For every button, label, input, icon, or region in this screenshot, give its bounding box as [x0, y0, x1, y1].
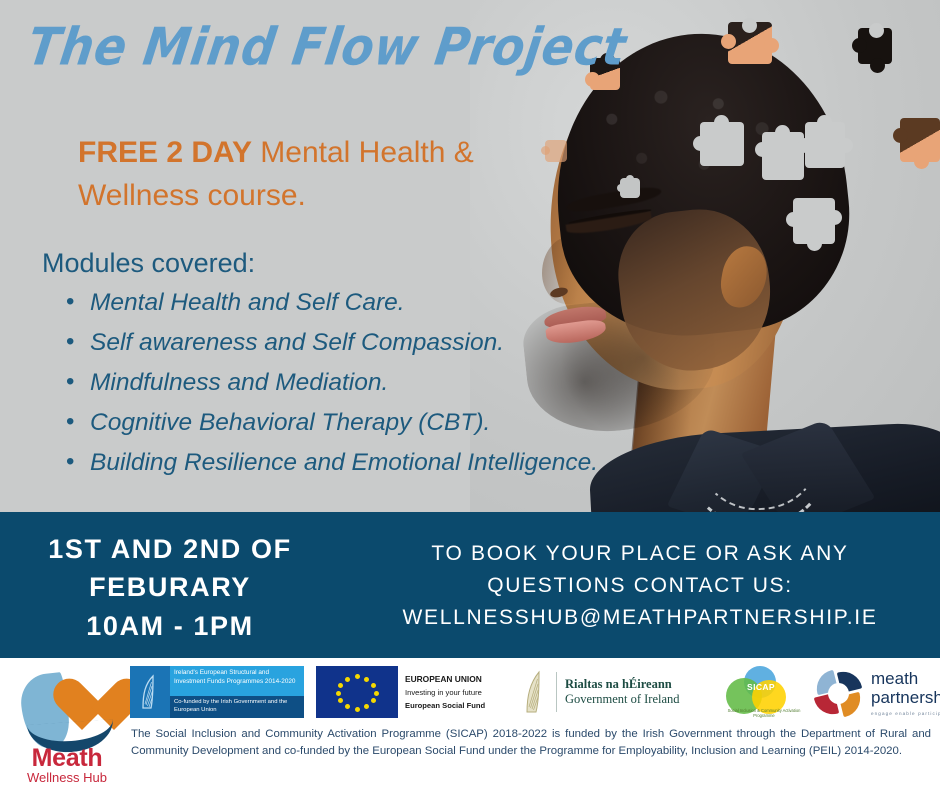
harp-icon [522, 669, 548, 715]
mp-tagline: engage enable participate progress [871, 711, 940, 716]
logo-subtitle: Wellness Hub [8, 770, 126, 785]
list-item: Mental Health and Self Care. [60, 283, 680, 323]
puzzle-piece-floating-small [545, 140, 567, 162]
esif-top-text: Ireland's European Structural and Invest… [170, 666, 304, 696]
meath-partnership-logo: meath partnership engage enable particip… [814, 666, 940, 720]
logo-name: Meath [8, 744, 126, 773]
esif-bottom-text: Co-funded by the Irish Government and th… [170, 696, 304, 718]
government-english: Government of Ireland [565, 692, 680, 707]
divider [556, 672, 557, 712]
subheading: FREE 2 DAY Mental Health & Wellness cour… [78, 132, 548, 217]
puzzle-piece-cutout [700, 122, 744, 166]
date-line-1: 1ST AND 2ND OF [0, 530, 340, 568]
list-item: Cognitive Behavioral Therapy (CBT). [60, 403, 680, 443]
government-of-ireland-logo: Rialtas na hÉireann Government of Irelan… [522, 666, 712, 718]
mp-line-1: meath [871, 670, 940, 688]
puzzle-piece-cutout [793, 198, 835, 244]
modules-list: Mental Health and Self Care. Self awaren… [60, 283, 680, 483]
puzzle-piece-cutout [762, 132, 804, 180]
government-text: Rialtas na hÉireann Government of Irelan… [565, 677, 680, 707]
eu-line-3: European Social Fund [405, 701, 485, 710]
mp-line-2: partnership [871, 688, 940, 707]
esif-logo: Ireland's European Structural and Invest… [130, 666, 304, 718]
contact-block: TO BOOK YOUR PLACE OR ASK ANY QUESTIONS … [350, 538, 930, 634]
info-banner: 1ST AND 2ND OF FEBURARY 10AM - 1PM TO BO… [0, 512, 940, 658]
sicap-wordmark: SICAP [736, 682, 786, 692]
puzzle-piece-floating [900, 118, 940, 162]
sicap-subtitle: Social Inclusion & Community Activation … [722, 708, 806, 719]
eu-text: EUROPEAN UNION Investing in your future … [405, 666, 485, 718]
contact-line-2: QUESTIONS CONTACT US: [350, 570, 930, 602]
puzzle-piece-floating [728, 22, 772, 64]
date-line-2: FEBURARY [0, 568, 340, 606]
eu-flag-icon [316, 666, 398, 718]
puzzle-piece-floating [858, 28, 892, 64]
harp-icon [130, 666, 170, 718]
funder-logos: Ireland's European Structural and Invest… [130, 664, 936, 722]
modules-label: Modules covered: [42, 248, 255, 279]
meath-wellness-hub-logo: Meath Wellness Hub [8, 662, 126, 786]
list-item: Building Resilience and Emotional Intell… [60, 443, 680, 483]
subheading-bold: FREE 2 DAY [78, 136, 252, 169]
poster-canvas: The Mind Flow Project FREE 2 DAY Mental … [0, 0, 940, 788]
list-item: Mindfulness and Mediation. [60, 363, 680, 403]
eu-line-2: Investing in your future [405, 688, 485, 697]
puzzle-piece-cutout-small [620, 178, 640, 198]
page-title: The Mind Flow Project [24, 17, 630, 78]
european-union-logo: EUROPEAN UNION Investing in your future … [316, 666, 508, 718]
contact-email[interactable]: WELLNESSHUB@MEATHPARTNERSHIP.IE [350, 602, 930, 634]
funding-disclaimer: The Social Inclusion and Community Activ… [131, 726, 931, 760]
footer: Meath Wellness Hub Ireland's European St… [0, 658, 940, 788]
contact-line-1: TO BOOK YOUR PLACE OR ASK ANY [350, 538, 930, 570]
date-time-block: 1ST AND 2ND OF FEBURARY 10AM - 1PM [0, 530, 340, 645]
time-line: 10AM - 1PM [0, 607, 340, 645]
list-item: Self awareness and Self Compassion. [60, 323, 680, 363]
esif-text: Ireland's European Structural and Invest… [170, 666, 304, 718]
sicap-logo: SICAP Social Inclusion & Community Activ… [722, 664, 806, 722]
government-irish: Rialtas na hÉireann [565, 677, 680, 692]
eu-line-1: EUROPEAN UNION [405, 674, 485, 684]
pinwheel-icon [814, 669, 862, 717]
meath-partnership-text: meath partnership engage enable particip… [871, 670, 940, 715]
puzzle-piece-cutout [805, 122, 845, 168]
